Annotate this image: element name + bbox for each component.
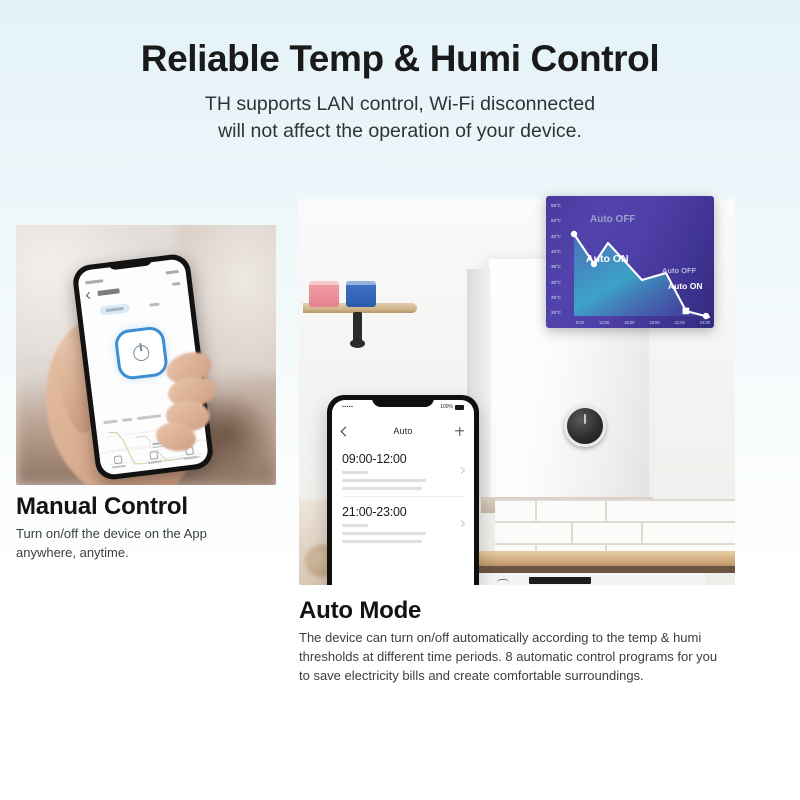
- schedule-row-2[interactable]: 21:00-23:00: [332, 505, 474, 543]
- shelf-bracket: [353, 312, 362, 346]
- auto-mode-body-line3: to save electricity bills and create com…: [299, 668, 644, 683]
- scene-label: [148, 460, 162, 464]
- chart-area-fill: [574, 234, 709, 317]
- counter-shadow: [475, 566, 735, 573]
- page-title: Reliable Temp & Humi Control: [0, 38, 800, 79]
- canister-blue: [346, 281, 376, 307]
- auto-mode-body: The device can turn on/off automatically…: [299, 629, 735, 686]
- battery-icon: [166, 270, 179, 275]
- schedule-time-1: 09:00-12:00: [342, 452, 464, 466]
- phone-screen-auto: ▪▪▪▪▪ 100% Auto 09:00-12:00: [332, 400, 474, 585]
- y-tick-0: 55°C: [551, 204, 573, 209]
- legend-item-2: [122, 418, 132, 422]
- chart-x-axis-labels: 6:00 12:00 15:00 18:00 21:00 24:00: [576, 318, 710, 326]
- home-icon: [114, 455, 123, 464]
- schedule-meta-1c: [342, 487, 422, 490]
- battery-status: 100%: [440, 404, 464, 410]
- schedule-time-2: 21:00-23:00: [342, 505, 464, 519]
- power-toggle-button[interactable]: [113, 325, 169, 381]
- tile-line-h3: [495, 543, 735, 545]
- legend-item-1: [103, 420, 117, 425]
- app-tab-group: [99, 299, 164, 316]
- x-tick-3: 18:00: [649, 320, 659, 325]
- device-name-label: [97, 288, 119, 296]
- auto-mode-heading: Auto Mode: [299, 597, 735, 625]
- canister-pink: [309, 281, 339, 307]
- tile-line-v3: [571, 521, 573, 543]
- profile-label: [183, 456, 197, 460]
- auto-screen-navbar: Auto: [332, 420, 474, 442]
- y-tick-4: 35°C: [551, 265, 573, 270]
- schedule-meta-2b: [342, 532, 426, 535]
- page-subtitle: TH supports LAN control, Wi-Fi disconnec…: [0, 91, 800, 144]
- chevron-right-icon-2: [458, 520, 465, 527]
- auto-mode-body-line2: thresholds at different time periods. 8 …: [299, 649, 717, 664]
- more-options-icon[interactable]: [172, 282, 180, 286]
- scene-icon: [149, 450, 158, 459]
- kitchen-appliance: [475, 573, 705, 585]
- manual-control-heading: Manual Control: [16, 493, 276, 521]
- page-subtitle-line1: TH supports LAN control, Wi-Fi disconnec…: [0, 91, 800, 118]
- app-nav-bar: [86, 281, 180, 299]
- tile-line-h2: [495, 521, 735, 523]
- chart-y-axis-labels: 55°C 50°C 45°C 40°C 35°C 30°C 25°C 20°C: [551, 204, 573, 316]
- manual-control-card: Manual Control Turn on/off the device on…: [16, 225, 276, 563]
- page-header: Reliable Temp & Humi Control TH supports…: [0, 38, 800, 144]
- tab-auto[interactable]: [145, 299, 164, 310]
- back-arrow-icon[interactable]: [86, 292, 93, 299]
- schedule-meta-2c: [342, 540, 422, 543]
- page-subtitle-line2: will not affect the operation of your de…: [0, 118, 800, 145]
- schedule-meta-1a: [342, 471, 368, 474]
- y-tick-6: 25°C: [551, 296, 573, 301]
- phone-notch-icon-auto: [372, 395, 434, 407]
- auto-mode-body-line1: The device can turn on/off automatically…: [299, 630, 701, 645]
- y-tick-1: 50°C: [551, 219, 573, 224]
- signal-strength-label: ▪▪▪▪▪: [342, 404, 353, 410]
- tab-auto-label: [149, 302, 160, 306]
- tab-manual-label: [106, 307, 124, 312]
- tile-line-h1: [495, 499, 735, 501]
- x-tick-1: 12:00: [599, 320, 609, 325]
- chart-annotation-auto-off-1: Auto OFF: [590, 214, 636, 225]
- manual-control-body: Turn on/off the device on the App anywhe…: [16, 525, 276, 563]
- temperature-reading: [102, 392, 146, 397]
- appliance-display-icon: [529, 577, 591, 584]
- y-tick-3: 40°C: [551, 250, 573, 255]
- tile-line-v4: [641, 521, 643, 543]
- power-icon: [132, 344, 150, 362]
- tab-manual[interactable]: [99, 303, 130, 316]
- y-tick-5: 30°C: [551, 281, 573, 286]
- auto-screen-title: Auto: [332, 426, 474, 436]
- x-tick-0: 6:00: [576, 320, 584, 325]
- phone-device-auto: ▪▪▪▪▪ 100% Auto 09:00-12:00: [327, 395, 479, 585]
- chart-annotation-auto-on-1: Auto ON: [586, 253, 629, 265]
- temperature-chart-overlay: 55°C 50°C 45°C 40°C 35°C 30°C 25°C 20°C …: [546, 196, 714, 328]
- plus-icon[interactable]: [455, 427, 464, 436]
- chart-annotation-auto-on-2: Auto ON: [668, 281, 702, 291]
- x-tick-4: 21:00: [675, 320, 685, 325]
- battery-percent-label: 100%: [440, 404, 453, 410]
- kitchen-counter: [475, 551, 735, 566]
- home-label: [112, 464, 126, 468]
- appliance-handle-icon: [497, 579, 509, 583]
- manual-control-body-line2: anywhere, anytime.: [16, 545, 129, 560]
- tile-line-v1: [535, 499, 537, 521]
- x-tick-5: 24:00: [700, 320, 710, 325]
- schedule-row-1[interactable]: 09:00-12:00: [332, 452, 474, 490]
- schedule-meta-2a: [342, 524, 368, 527]
- legend-item-3: [137, 414, 161, 420]
- chevron-right-icon-1: [458, 467, 465, 474]
- schedule-meta-1b: [342, 479, 426, 482]
- manual-control-body-line1: Turn on/off the device on the App: [16, 526, 207, 541]
- boiler-dial-icon: [564, 405, 606, 447]
- manual-control-photo: [16, 225, 276, 485]
- x-tick-2: 15:00: [624, 320, 634, 325]
- tile-line-v2: [605, 499, 607, 521]
- schedule-divider: [342, 496, 464, 497]
- chart-marker-3: [683, 308, 690, 315]
- y-tick-2: 45°C: [551, 235, 573, 240]
- chart-annotation-auto-off-2: Auto OFF: [662, 266, 696, 275]
- signal-icon: [85, 279, 103, 284]
- y-tick-7: 20°C: [551, 311, 573, 316]
- battery-icon-auto: [455, 405, 464, 410]
